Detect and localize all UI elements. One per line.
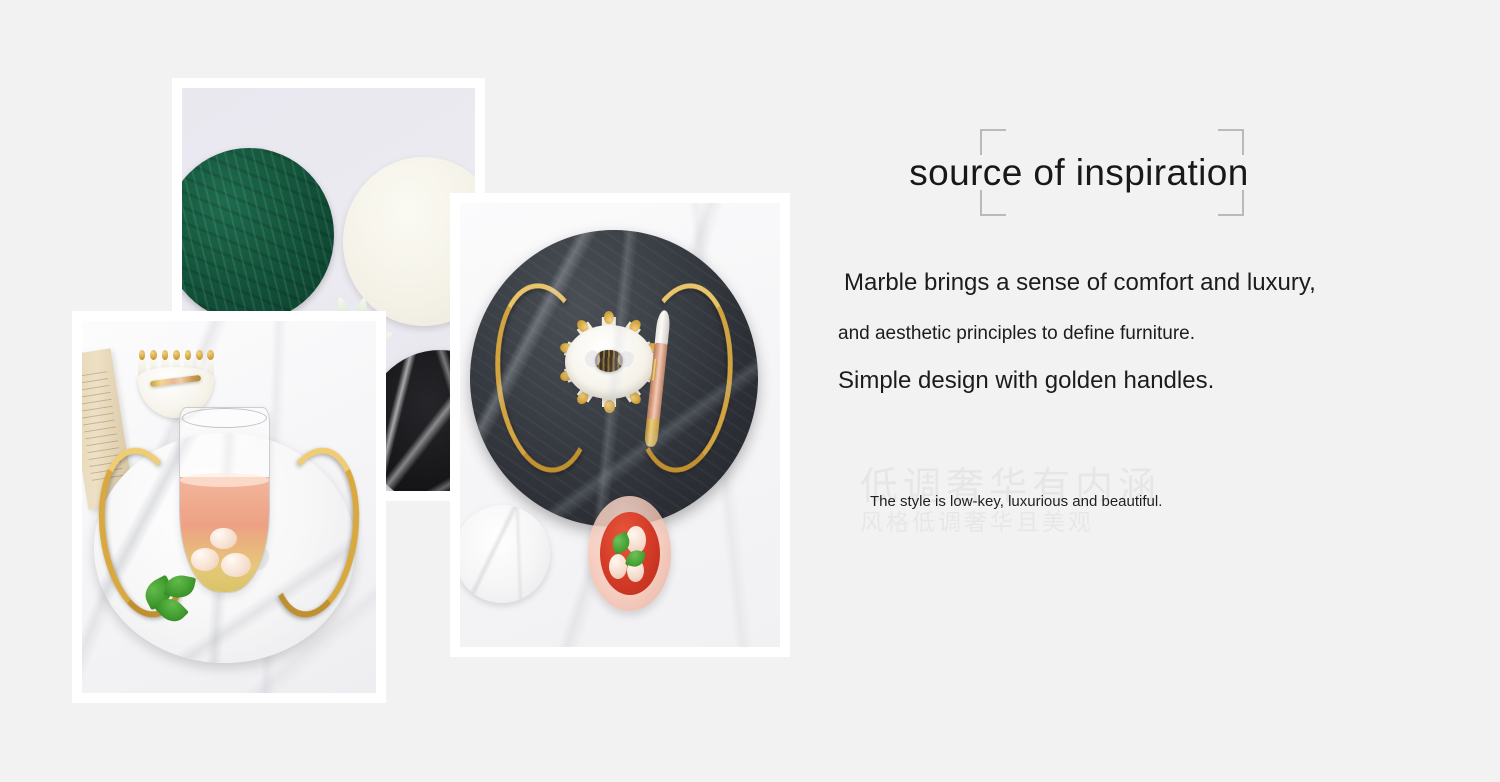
rose-gold-pen <box>644 310 671 447</box>
crown-spike <box>602 317 616 362</box>
ghost-caption: The style is low-key, luxurious and beau… <box>870 493 1162 510</box>
body-line-3: Simple design with golden handles. <box>838 367 1398 395</box>
white-marble-tray-photo[interactable] <box>72 311 386 703</box>
bee-figurine <box>595 350 623 372</box>
crown-spike <box>607 355 654 382</box>
body-line-2: and aesthetic principles to define furni… <box>838 323 1398 345</box>
crown-spike <box>607 341 654 368</box>
gold-handle-left <box>486 279 603 479</box>
bracket-top-left-icon <box>980 129 1006 155</box>
body-line-1: Marble brings a sense of comfort and lux… <box>838 269 1398 297</box>
gold-handle-right <box>624 279 741 479</box>
fruit-ball <box>210 528 237 550</box>
ghost-caption-block: 低调奢华有内涵 风格低调奢华且美观 The style is low-key, … <box>838 463 1398 539</box>
glass-red-drink <box>588 496 671 611</box>
crown-spike <box>604 358 642 403</box>
photo-image <box>460 203 780 647</box>
fruit-ball <box>191 548 220 571</box>
pen-tip <box>644 419 659 448</box>
dark-marble-tray <box>470 230 758 527</box>
bracket-bottom-right-icon <box>1218 190 1244 216</box>
pen-clip <box>652 359 658 381</box>
glass-rim <box>182 408 268 428</box>
page-title: source of inspiration <box>884 154 1274 191</box>
fruit-ball <box>609 554 627 579</box>
mint-sprig <box>144 570 200 626</box>
bracket-top-right-icon <box>1218 129 1244 155</box>
red-drink <box>600 512 660 595</box>
crown-spike <box>577 321 615 366</box>
page-root: source of inspiration Marble brings a se… <box>0 0 1500 782</box>
pen-body <box>646 342 667 422</box>
crown-spike <box>564 355 611 382</box>
bracket-bottom-left-icon <box>980 190 1006 216</box>
title-block: source of inspiration <box>884 120 1274 221</box>
white-marble-coaster <box>460 505 550 603</box>
fruit-ball <box>221 553 251 577</box>
photo-image <box>82 321 376 693</box>
crown-spike <box>602 362 616 407</box>
crown-dish-bowl <box>565 325 655 400</box>
pen-cap <box>654 310 670 347</box>
copy-panel: source of inspiration Marble brings a se… <box>838 120 1398 539</box>
glass-peach-drink <box>179 407 270 593</box>
dark-marble-tray-photo[interactable] <box>450 193 790 657</box>
crown-spike <box>564 341 611 368</box>
crown-spike <box>604 321 642 366</box>
crown-dish <box>556 313 663 411</box>
crown-spike <box>577 358 615 403</box>
